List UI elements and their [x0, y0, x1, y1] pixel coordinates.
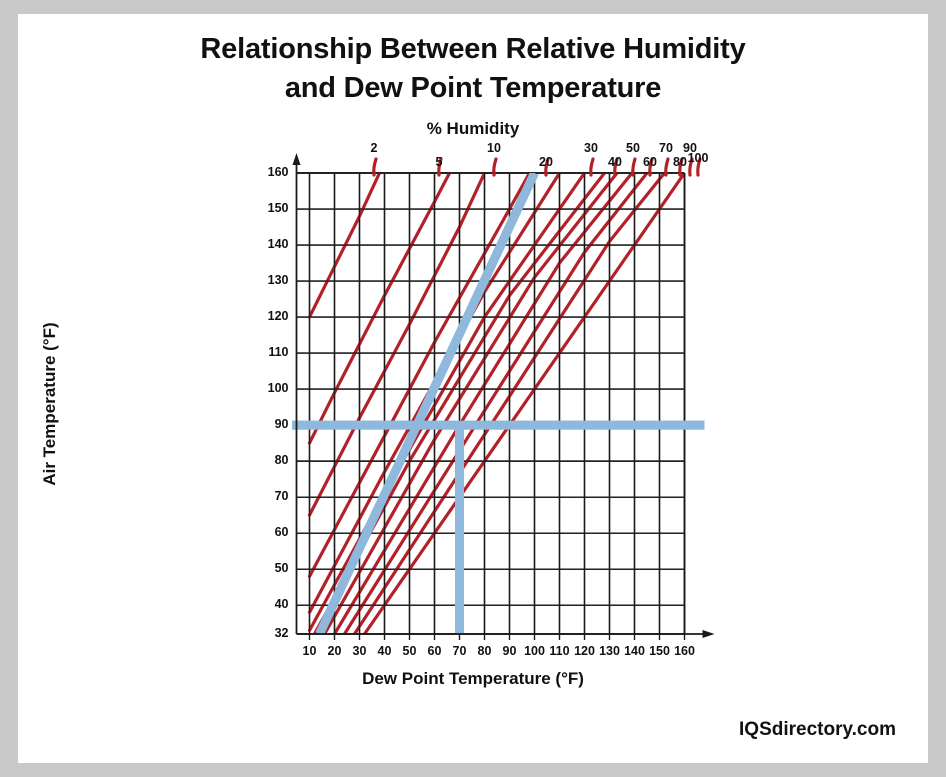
humidity-curve-label-40: 40 — [595, 155, 635, 169]
y-axis-tick-label: 130 — [245, 273, 289, 287]
y-axis-tick-label: 50 — [245, 561, 289, 575]
y-axis-tick-label: 120 — [245, 309, 289, 323]
humidity-curve-80 — [345, 173, 648, 634]
y-axis-tick-label: 32 — [245, 626, 289, 640]
y-axis-tick-label: 140 — [245, 237, 289, 251]
y-axis-tick-label: 70 — [245, 489, 289, 503]
y-axis-tick-label: 80 — [245, 453, 289, 467]
y-axis-tick-label: 40 — [245, 597, 289, 611]
humidity-curve-label-100: 100 — [678, 151, 718, 165]
x-axis-tick-label: 160 — [665, 644, 705, 658]
humidity-curve-label-2: 2 — [354, 141, 394, 155]
humidity-curve-label-30: 30 — [571, 141, 611, 155]
y-axis-tick-label: 160 — [245, 165, 289, 179]
highlight-diagonal-guide — [320, 173, 535, 634]
humidity-curve-label-10: 10 — [474, 141, 514, 155]
humidity-curves — [310, 173, 685, 634]
humidity-curve-label-5: 5 — [419, 155, 459, 169]
y-axis-tick-label: 150 — [245, 201, 289, 215]
y-axis-tick-label: 60 — [245, 525, 289, 539]
y-axis-tick-label: 110 — [245, 345, 289, 359]
x-axis-arrow-icon — [703, 630, 715, 638]
y-axis-tick-label: 90 — [245, 417, 289, 431]
y-axis-arrow-icon — [293, 153, 301, 165]
highlight-lines — [292, 173, 705, 634]
page-background: Relationship Between Relative Humidity a… — [0, 0, 946, 777]
plot-area: 3240506070809010011012013014015016010203… — [18, 14, 928, 763]
humidity-curve-label-20: 20 — [526, 155, 566, 169]
y-axis-tick-label: 100 — [245, 381, 289, 395]
humidity-curve-70 — [335, 173, 633, 634]
chart-card: Relationship Between Relative Humidity a… — [18, 14, 928, 763]
